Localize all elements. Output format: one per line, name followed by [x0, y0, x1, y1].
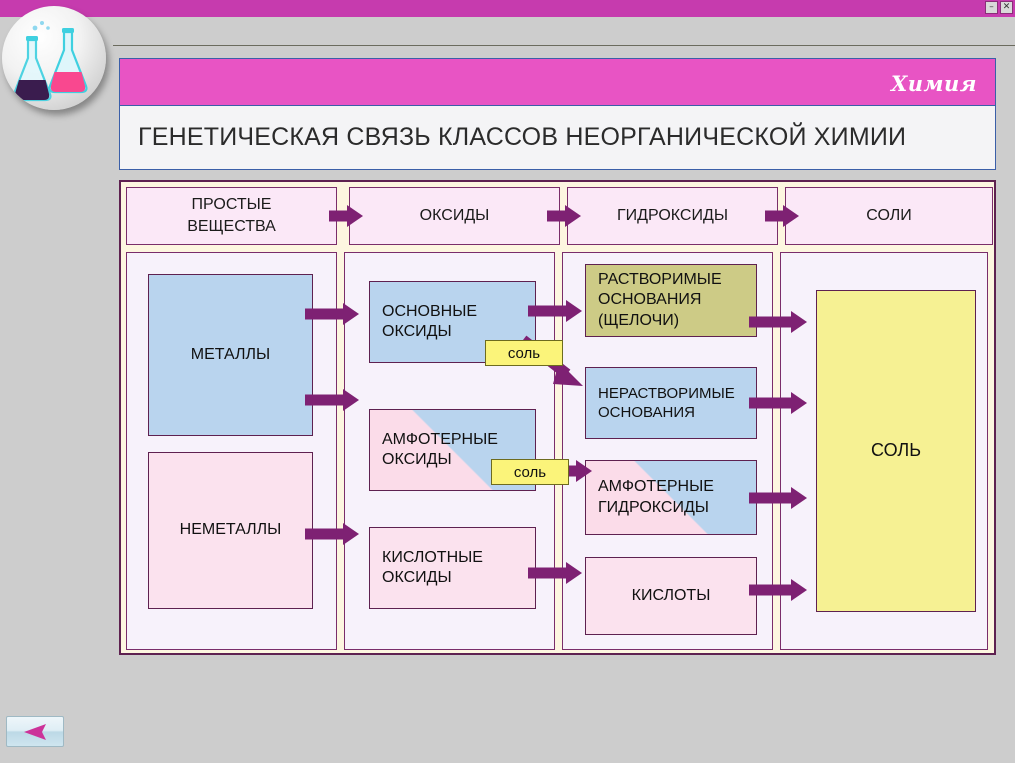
arrow-hydroxides-to-salts: [765, 205, 799, 227]
node-label: СОЛЬ: [871, 439, 921, 462]
node-label-line2: ОКСИДЫ: [382, 568, 483, 588]
arrow-oxides-to-hydroxides: [547, 205, 581, 227]
node-label-line3: (ЩЕЛОЧИ): [598, 311, 722, 331]
node-label-line1: КИСЛОТНЫЕ: [382, 548, 483, 568]
salt-chip-amphoteric-oxides: соль: [491, 459, 569, 485]
close-button[interactable]: ✕: [1000, 1, 1013, 14]
node-insoluble-bases[interactable]: НЕРАСТВОРИМЫЕ ОСНОВАНИЯ: [585, 367, 757, 439]
arrow-metals-to-amphoteric-oxides: [305, 389, 355, 411]
node-label-line1: АМФОТЕРНЫЕ: [598, 477, 714, 497]
window-controls: – ✕: [985, 1, 1013, 14]
node-nonmetals[interactable]: НЕМЕТАЛЛЫ: [148, 452, 313, 609]
chip-label: соль: [508, 345, 540, 362]
node-label-line1: АМФОТЕРНЫЕ: [382, 430, 498, 450]
flasks-svg: [2, 6, 106, 110]
node-soluble-bases[interactable]: РАСТВОРИМЫЕ ОСНОВАНИЯ (ЩЕЛОЧИ): [585, 264, 757, 337]
minimize-button[interactable]: –: [985, 1, 998, 14]
node-label-line2: ГИДРОКСИДЫ: [598, 498, 714, 518]
column-header-simple-substances: ПРОСТЫЕ ВЕЩЕСТВА: [126, 187, 337, 245]
node-metals[interactable]: МЕТАЛЛЫ: [148, 274, 313, 436]
arrow-acidic-oxides-to-acids: [528, 562, 578, 584]
arrow-simple-to-oxides: [329, 205, 363, 227]
diagram-header-row: ПРОСТЫЕ ВЕЩЕСТВА ОКСИДЫ ГИДРОКСИДЫ СОЛИ: [126, 187, 993, 245]
subject-band: Химия: [119, 58, 996, 106]
minimize-icon: –: [989, 3, 994, 12]
chip-label: соль: [514, 464, 546, 481]
arrow-acids-to-salt: [749, 579, 804, 601]
column-header-label: ГИДРОКСИДЫ: [617, 205, 728, 227]
back-button[interactable]: [6, 716, 64, 747]
column-header-line2: ВЕЩЕСТВА: [187, 216, 276, 238]
back-triangle-icon: [20, 722, 50, 742]
column-header-label: ОКСИДЫ: [420, 205, 490, 227]
node-label: НЕМЕТАЛЛЫ: [180, 520, 282, 540]
column-header-salts: СОЛИ: [785, 187, 993, 245]
close-icon: ✕: [1003, 3, 1011, 12]
title-band: ГЕНЕТИЧЕСКАЯ СВЯЗЬ КЛАССОВ НЕОРГАНИЧЕСКО…: [119, 106, 996, 170]
node-amphoteric-hydroxides[interactable]: АМФОТЕРНЫЕ ГИДРОКСИДЫ: [585, 460, 757, 535]
node-label-line1: ОСНОВНЫЕ: [382, 302, 477, 322]
node-label: КИСЛОТЫ: [632, 586, 711, 606]
column-header-hydroxides: ГИДРОКСИДЫ: [567, 187, 778, 245]
subject-label: Химия: [891, 71, 977, 96]
node-label-line1: РАСТВОРИМЫЕ: [598, 270, 722, 290]
arrow-insoluble-bases-to-salt: [749, 392, 804, 414]
window-titlebar: – ✕: [0, 0, 1015, 17]
node-acids[interactable]: КИСЛОТЫ: [585, 557, 757, 635]
column-header-line1: ПРОСТЫЕ: [187, 194, 276, 216]
node-label-line1: НЕРАСТВОРИМЫЕ: [598, 384, 735, 403]
column-header-label: СОЛИ: [866, 205, 911, 227]
arrow-nonmetals-to-acidic-oxides: [305, 523, 355, 545]
node-label-line2: ОСНОВАНИЯ: [598, 290, 722, 310]
column-header-oxides: ОКСИДЫ: [349, 187, 560, 245]
slide-root: – ✕ Химия ГЕНЕТИЧЕСКАЯ СВЯЗЬ КЛАССОВ НЕО: [0, 0, 1015, 763]
node-label-line2: ОКСИДЫ: [382, 322, 477, 342]
node-label-line2: ОКСИДЫ: [382, 450, 498, 470]
arrow-soluble-bases-to-salt: [749, 311, 804, 333]
chemistry-flasks-icon: [2, 6, 106, 110]
node-salt[interactable]: СОЛЬ: [816, 290, 976, 612]
arrow-amphoteric-hydroxides-to-salt: [749, 487, 804, 509]
arrow-basic-oxides-to-soluble-bases: [528, 300, 578, 322]
node-label: МЕТАЛЛЫ: [191, 345, 270, 365]
arrow-metals-to-basic-oxides: [305, 303, 355, 325]
header-rule: [113, 45, 1015, 46]
diagram-frame: ПРОСТЫЕ ВЕЩЕСТВА ОКСИДЫ ГИДРОКСИДЫ СОЛИ: [119, 180, 996, 655]
node-label-line2: ОСНОВАНИЯ: [598, 403, 735, 422]
page-title: ГЕНЕТИЧЕСКАЯ СВЯЗЬ КЛАССОВ НЕОРГАНИЧЕСКО…: [120, 123, 906, 152]
salt-chip-basic-oxides: соль: [485, 340, 563, 366]
node-acidic-oxides[interactable]: КИСЛОТНЫЕ ОКСИДЫ: [369, 527, 536, 609]
